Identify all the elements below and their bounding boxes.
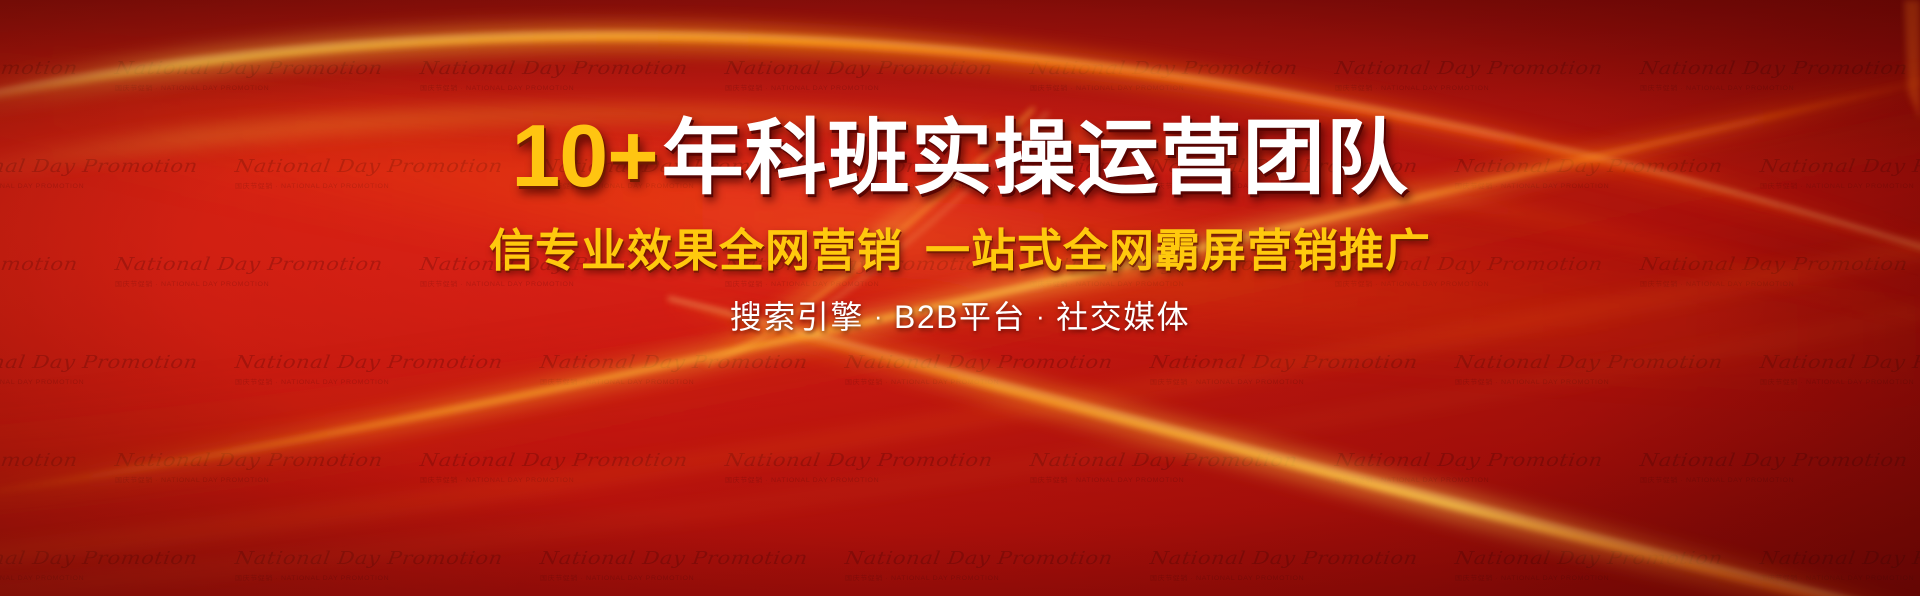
promotional-banner: National Day Promotion国庆节促销 · NATIONAL D… <box>0 0 1920 596</box>
tagline-item-b2b-platform: B2B平台 <box>894 299 1026 335</box>
subline-right: 一站式全网霸屏营销推广 <box>925 225 1431 276</box>
tagline: 搜索引擎·B2B平台·社交媒体 <box>730 301 1190 333</box>
headline: 10+年科班实操运营团队 <box>511 112 1408 200</box>
subline: 信专业效果全网营销一站式全网霸屏营销推广 <box>489 228 1431 273</box>
banner-content: 10+年科班实操运营团队 信专业效果全网营销一站式全网霸屏营销推广 搜索引擎·B… <box>0 0 1920 596</box>
subline-left: 信专业效果全网营销 <box>489 225 903 276</box>
tagline-item-search-engine: 搜索引擎 <box>730 299 864 335</box>
headline-number: 10+ <box>511 106 657 205</box>
tagline-separator-dot: · <box>864 303 894 329</box>
headline-text: 年科班实操运营团队 <box>662 113 1409 204</box>
tagline-item-social-media: 社交媒体 <box>1056 299 1190 335</box>
tagline-separator-dot: · <box>1026 303 1056 329</box>
